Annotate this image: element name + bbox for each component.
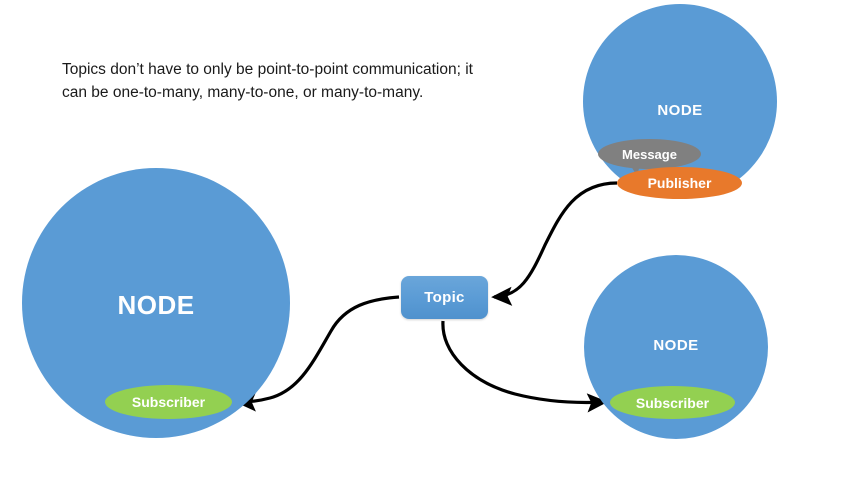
topic-box[interactable]: Topic <box>401 276 488 319</box>
message-bubble: Message <box>598 139 701 169</box>
subscriber-pill-right[interactable]: Subscriber <box>610 386 735 419</box>
publisher-pill[interactable]: Publisher <box>617 167 742 199</box>
subscriber-pill-left[interactable]: Subscriber <box>105 385 232 419</box>
diagram-canvas: Topics don’t have to only be point-to-po… <box>0 0 854 480</box>
arrow-publisher-to-topic <box>494 183 617 297</box>
node-label-left: NODE <box>22 290 290 321</box>
node-label-top-right: NODE <box>583 102 777 119</box>
node-label-bottom-right: NODE <box>584 337 768 354</box>
arrow-topic-to-subscriber-right <box>443 321 605 402</box>
caption-text: Topics don’t have to only be point-to-po… <box>62 58 482 105</box>
